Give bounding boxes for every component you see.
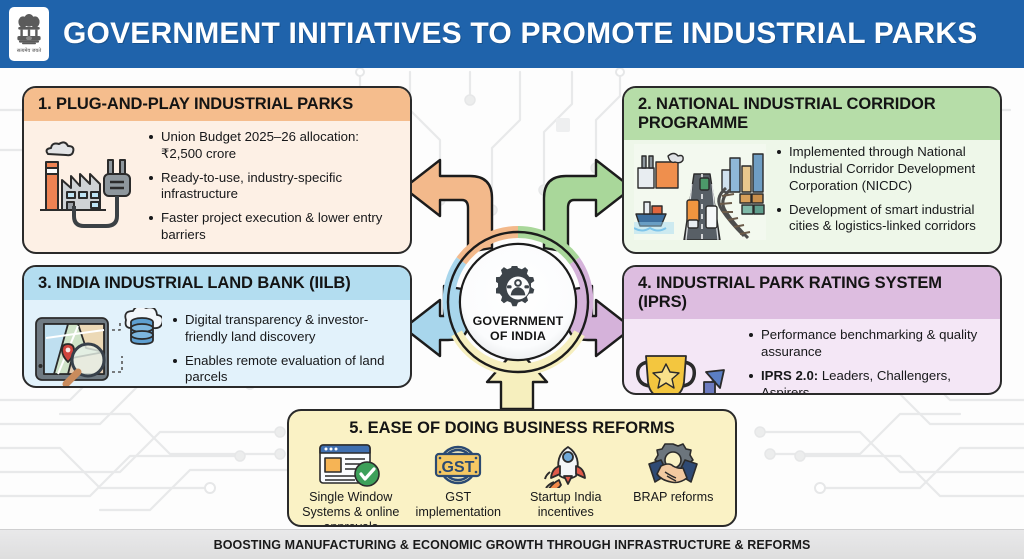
card-ease-of-doing-business-reforms[interactable]: 5. EASE OF DOING BUSINESS REFORMS [287,409,737,527]
card4-title: 4. INDUSTRIAL PARK RATING SYSTEM (IPRS) [624,267,1000,319]
card1-bullets: Union Budget 2025–26 allocation: ₹2,500 … [144,129,400,244]
card-india-industrial-land-bank[interactable]: 3. INDIA INDUSTRIAL LAND BANK (IILB) [22,265,412,388]
page-footer: BOOSTING MANUFACTURING & ECONOMIC GROWTH… [0,529,1024,559]
list-item: Implemented through National Industrial … [789,144,988,194]
card3-title: 3. INDIA INDUSTRIAL LAND BANK (IILB) [24,267,410,300]
hub-label-line2: OF INDIA [438,329,598,344]
factory-plug-icon [34,129,138,244]
handshake-gear-icon [637,442,709,488]
reform-startup-india[interactable]: Startup India incentives [512,442,620,520]
reform-items: Single Window Systems & online approvals… [289,440,735,527]
center-hub-government-of-india[interactable]: GOVERNMENT OF INDIA [438,222,598,382]
list-item: Enables remote evaluation of land parcel… [185,353,398,387]
reform-label: BRAP reforms [633,490,713,505]
list-item: Union Budget 2025–26 allocation: ₹2,500 … [161,129,398,163]
card2-bullets: Implemented through National Industrial … [772,144,990,240]
card4-bullets: Performance benchmarking & quality assur… [744,327,990,395]
hub-label: GOVERNMENT OF INDIA [438,314,598,344]
hub-label-line1: GOVERNMENT [438,314,598,329]
reform-label: Single Window Systems & online approvals [297,490,405,527]
card-plug-and-play-industrial-parks[interactable]: 1. PLUG-AND-PLAY INDUSTRIAL PARKS [22,86,412,254]
card-industrial-park-rating-system[interactable]: 4. INDUSTRIAL PARK RATING SYSTEM (IPRS) [622,265,1002,395]
gst-icon: GST [422,442,494,488]
list-item: Performance benchmarking & quality assur… [761,327,988,361]
reform-label: GST implementation [405,490,513,520]
infographic-canvas: सत्यमेव जयते GOVERNMENT INITIATIVES TO P… [0,0,1024,559]
list-item: Digital transparency & investor-friendly… [185,312,398,346]
card3-bullets: Digital transparency & investor-friendly… [168,308,400,386]
card1-title: 1. PLUG-AND-PLAY INDUSTRIAL PARKS [24,88,410,121]
card5-title: 5. EASE OF DOING BUSINESS REFORMS [289,411,735,440]
gear-icon [496,266,540,310]
svg-text:सत्यमेव जयते: सत्यमेव जयते [17,47,41,54]
list-item: Ready-to-use, industry-specific infrastr… [161,170,398,204]
single-window-approval-icon [315,442,387,488]
svg-text:GST: GST [442,459,475,476]
list-item: Faster project execution & lower entry b… [161,210,398,244]
rocket-icon [530,442,602,488]
logistics-corridor-icon [634,144,766,240]
reform-single-window[interactable]: Single Window Systems & online approvals [297,442,405,527]
list-item: IPRS 2.0: Leaders, Challengers, Aspirers [761,368,988,395]
trophy-growth-chart-icon [634,327,738,395]
reform-label: Startup India incentives [512,490,620,520]
page-title: GOVERNMENT INITIATIVES TO PROMOTE INDUST… [63,17,978,51]
reform-brap[interactable]: BRAP reforms [620,442,728,505]
card-national-industrial-corridor-programme[interactable]: 2. NATIONAL INDUSTRIAL CORRIDOR PROGRAMM… [622,86,1002,254]
page-header: सत्यमेव जयते GOVERNMENT INITIATIVES TO P… [0,0,1024,68]
reform-gst[interactable]: GST GST implementation [405,442,513,520]
bullet-bold: IPRS 2.0: [761,368,818,383]
india-state-emblem: सत्यमेव जयते [9,7,49,61]
bullet-text: Performance benchmarking & quality assur… [761,327,977,359]
tablet-map-cloud-icon [34,308,162,386]
footer-text: BOOSTING MANUFACTURING & ECONOMIC GROWTH… [214,538,811,552]
card2-title: 2. NATIONAL INDUSTRIAL CORRIDOR PROGRAMM… [624,88,1000,140]
list-item: Development of smart industrial cities &… [789,202,988,236]
